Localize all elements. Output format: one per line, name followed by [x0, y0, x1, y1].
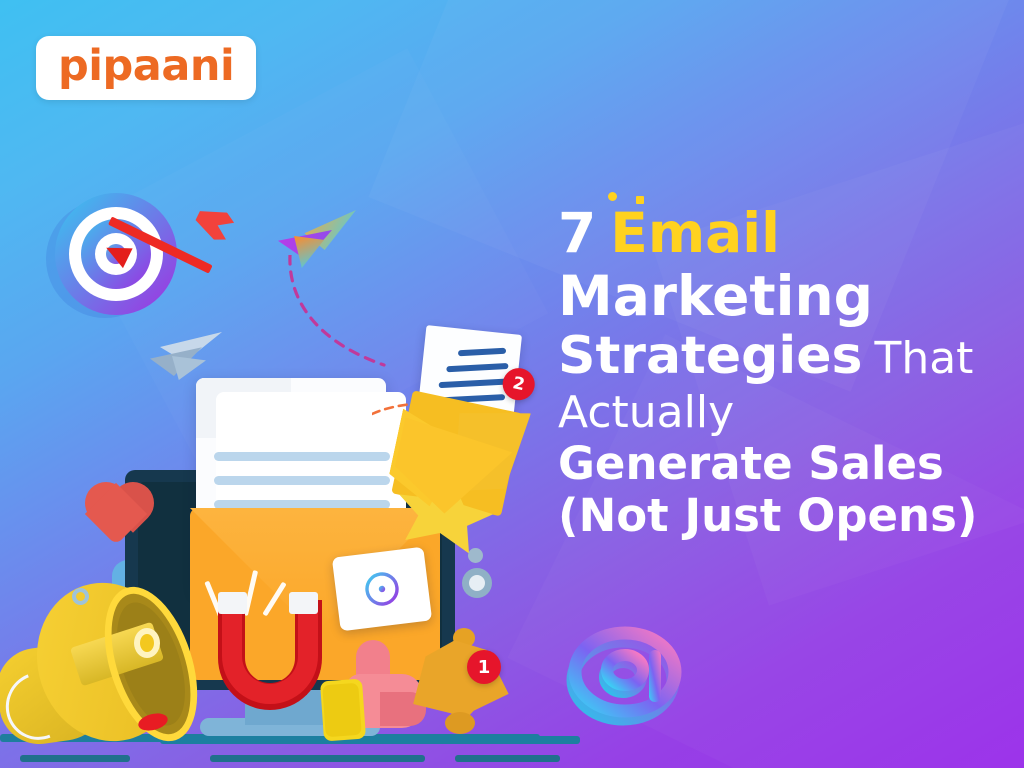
desk-line: [455, 755, 560, 762]
magnet-tip-right: [289, 592, 318, 614]
bell-notification-badge: 1: [467, 650, 501, 684]
marketing-banner: 2: [0, 0, 1024, 768]
headline-line-2: Marketing: [558, 268, 998, 325]
bell-clapper: [445, 712, 475, 734]
decor-dot-inner: [469, 575, 485, 591]
arrow-fletching-icon: [191, 202, 237, 245]
megaphone-icon: [18, 580, 248, 768]
crosshair-icon: [353, 560, 411, 618]
headline-line-3: StrategiesThat: [558, 330, 998, 384]
headline-line-3-bold: Strategies: [558, 326, 862, 386]
headline-line-4: Actually: [558, 390, 998, 435]
headline-line-5: Generate Sales: [558, 441, 998, 487]
heart-icon: [85, 478, 157, 546]
paper-plane-trail: [280, 255, 430, 375]
headline-block: 7Email Marketing StrategiesThat Actually…: [558, 205, 998, 546]
letter-text-line: [439, 379, 509, 389]
grey-plane-fin: [172, 356, 206, 380]
headline-line-1: 7Email: [558, 205, 998, 262]
brand-logo[interactable]: pipaani: [36, 36, 256, 100]
decor-dot-yellow: [608, 192, 617, 201]
decor-ring: [72, 588, 89, 605]
letter-text-line: [214, 452, 390, 461]
brand-logo-text: pipaani: [58, 45, 234, 88]
letter-text-line: [446, 363, 508, 372]
megaphone-tip-inner: [140, 634, 154, 652]
grey-paper-plane-icon: [150, 332, 222, 380]
letter-text-line: [458, 348, 506, 357]
headline-line-3-light: That: [874, 333, 973, 384]
thumb-cuff-shade: [322, 683, 362, 737]
crosshair-target-card: [332, 547, 432, 632]
notification-bell-icon: 1: [405, 628, 515, 738]
headline-number: 7: [558, 201, 596, 265]
headline-line-6: (Not Just Opens): [558, 493, 998, 539]
headline-highlight: Email: [610, 201, 780, 265]
letter-text-line: [214, 476, 390, 485]
decor-dot: [468, 548, 483, 563]
at-symbol-icon: [565, 620, 690, 730]
